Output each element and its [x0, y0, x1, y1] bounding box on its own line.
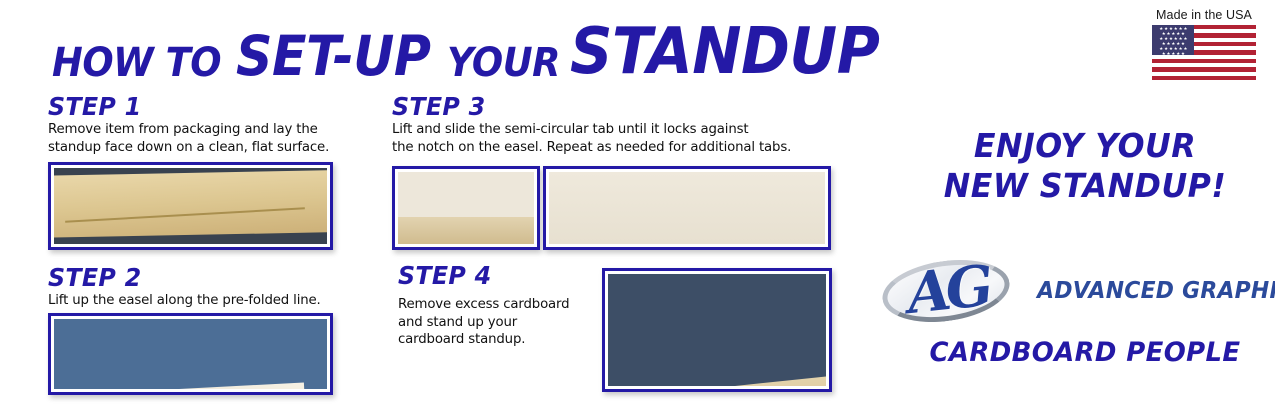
made-in-usa-badge: Made in the USA ★★★★★★ ★★★★★ ★★★★★★ ★★★★… [1149, 8, 1259, 80]
step-1-body: Remove item from packaging and lay the s… [48, 121, 388, 156]
step-1-photo-frame [48, 162, 333, 250]
step-2-photo [54, 319, 327, 389]
title-part-4: STANDUP [570, 23, 879, 82]
step-3-photo-b [549, 172, 825, 244]
step-4-photo-frame [602, 268, 832, 392]
page-title: HOW TO SET-UP YOUR STANDUP [52, 14, 872, 82]
brand-tagline: CARDBOARD PEOPLE [912, 337, 1258, 368]
title-part-3: YOUR [447, 45, 560, 82]
step-3-block: STEP 3 Lift and slide the semi-circular … [392, 92, 852, 156]
logo-monogram: AG [885, 248, 1012, 332]
step-4-heading: STEP 4 [398, 261, 598, 290]
us-flag-icon: ★★★★★★ ★★★★★ ★★★★★★ ★★★★★ ★★★★★★ ★★★★★ ★… [1152, 25, 1256, 80]
step-2-body: Lift up the easel along the pre-folded l… [48, 292, 388, 310]
step-2-heading: STEP 2 [48, 263, 371, 292]
enjoy-message: ENJOY YOUR NEW STANDUP! [905, 126, 1265, 206]
advanced-graphics-logo-icon: AG [878, 252, 1014, 330]
title-part-2: SET-UP [236, 31, 431, 82]
step-3-photo-frame-b [543, 166, 831, 250]
step-3-photo-a [398, 172, 534, 244]
brand-logo-row: AG ADVANCED GRAPHICS [878, 252, 1268, 330]
step-2-block: STEP 2 Lift up the easel along the pre-f… [48, 263, 388, 310]
brand-name: ADVANCED GRAPHICS [1037, 278, 1275, 304]
enjoy-line-2: NEW STANDUP! [912, 166, 1258, 206]
enjoy-line-1: ENJOY YOUR [912, 126, 1258, 166]
step-3-heading: STEP 3 [392, 92, 829, 121]
step-3-photo-frame-a [392, 166, 540, 250]
title-part-1: HOW TO [52, 45, 221, 82]
step-1-block: STEP 1 Remove item from packaging and la… [48, 92, 388, 156]
made-in-usa-label: Made in the USA [1149, 8, 1259, 22]
step-1-photo [54, 168, 327, 244]
step-4-body: Remove excess cardboard and stand up you… [398, 296, 608, 349]
step-4-block: STEP 4 Remove excess cardboard and stand… [398, 261, 608, 349]
step-3-body: Lift and slide the semi-circular tab unt… [392, 121, 852, 156]
step-2-photo-frame [48, 313, 333, 395]
step-4-photo [608, 274, 826, 386]
instruction-sheet: HOW TO SET-UP YOUR STANDUP Made in the U… [0, 0, 1275, 417]
flag-stars: ★★★★★★ ★★★★★ ★★★★★★ ★★★★★ ★★★★★★ ★★★★★ ★… [1152, 25, 1194, 55]
step-1-heading: STEP 1 [48, 92, 371, 121]
